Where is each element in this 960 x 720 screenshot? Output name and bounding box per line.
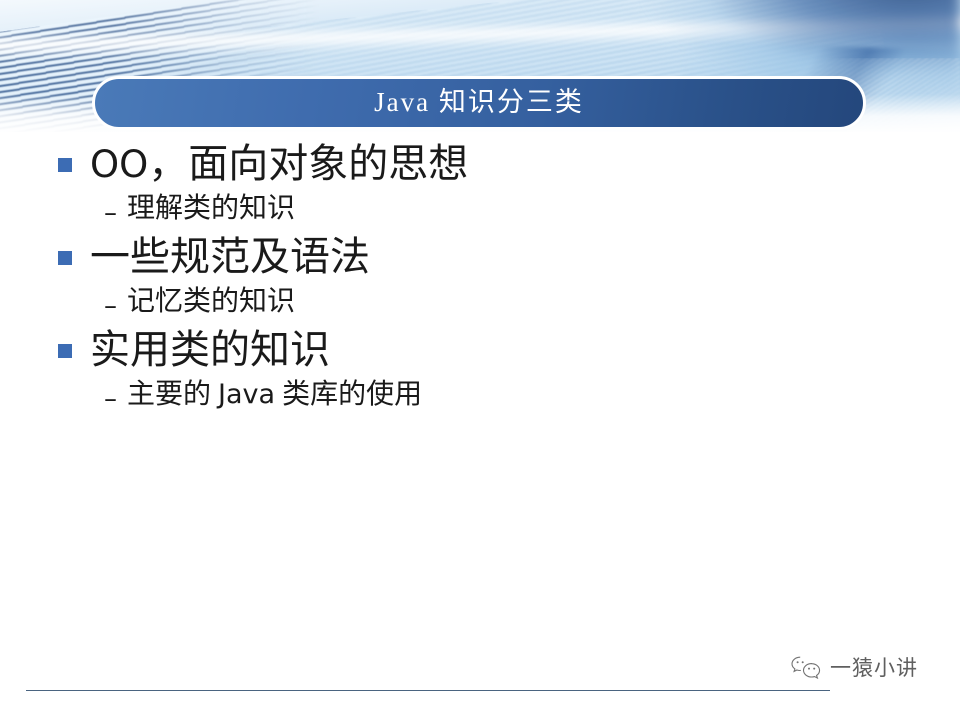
bullet-item: 实用类的知识 (0, 326, 960, 375)
bullet-item: 一些规范及语法 (0, 233, 960, 282)
sub-bullet-item: – 主要的 Java 类库的使用 (0, 377, 960, 413)
page-title: Java 知识分三类 (374, 89, 584, 118)
sub-bullet-latin-text: Java (218, 379, 275, 410)
bullet-cjk-text: ，面向对象的思想 (148, 141, 468, 186)
square-bullet-icon (58, 158, 72, 172)
bullet-latin-text: OO (90, 143, 148, 186)
sub-bullet-text: 记忆类的知识 (127, 284, 295, 320)
sub-bullet-item: – 理解类的知识 (0, 191, 960, 227)
bullet-group: 一些规范及语法 – 记忆类的知识 (0, 233, 960, 320)
dash-bullet-icon: – (104, 386, 117, 412)
bullet-group: 实用类的知识 – 主要的 Java 类库的使用 (0, 326, 960, 413)
sub-bullet-text: 主要的 Java 类库的使用 (127, 377, 422, 413)
wechat-icon (789, 655, 823, 681)
bullet-item: OO，面向对象的思想 (0, 140, 960, 189)
sub-bullet-item: – 记忆类的知识 (0, 284, 960, 320)
dash-bullet-icon: – (104, 293, 117, 319)
slide-title-container: Java 知识分三类 (92, 76, 866, 130)
bullet-group: OO，面向对象的思想 – 理解类的知识 (0, 140, 960, 227)
dash-bullet-icon: – (104, 200, 117, 226)
footer-watermark: 一猿小讲 (789, 655, 918, 681)
footer-divider (26, 690, 830, 691)
bullet-text: OO，面向对象的思想 (90, 140, 468, 189)
bullet-text: 实用类的知识 (90, 326, 330, 375)
sub-bullet-text: 理解类的知识 (127, 191, 295, 227)
slide: Java 知识分三类 OO，面向对象的思想 – 理解类的知识 一些规范及语法 –… (0, 0, 960, 720)
sub-bullet-text-part-b: 类库的使用 (275, 379, 422, 410)
slide-body: OO，面向对象的思想 – 理解类的知识 一些规范及语法 – 记忆类的知识 实用类… (0, 140, 960, 420)
watermark-label: 一猿小讲 (830, 658, 918, 679)
bullet-text: 一些规范及语法 (90, 233, 370, 282)
slide-title-pill: Java 知识分三类 (92, 76, 866, 130)
square-bullet-icon (58, 344, 72, 358)
sub-bullet-text-part-a: 主要的 (127, 379, 218, 410)
square-bullet-icon (58, 251, 72, 265)
